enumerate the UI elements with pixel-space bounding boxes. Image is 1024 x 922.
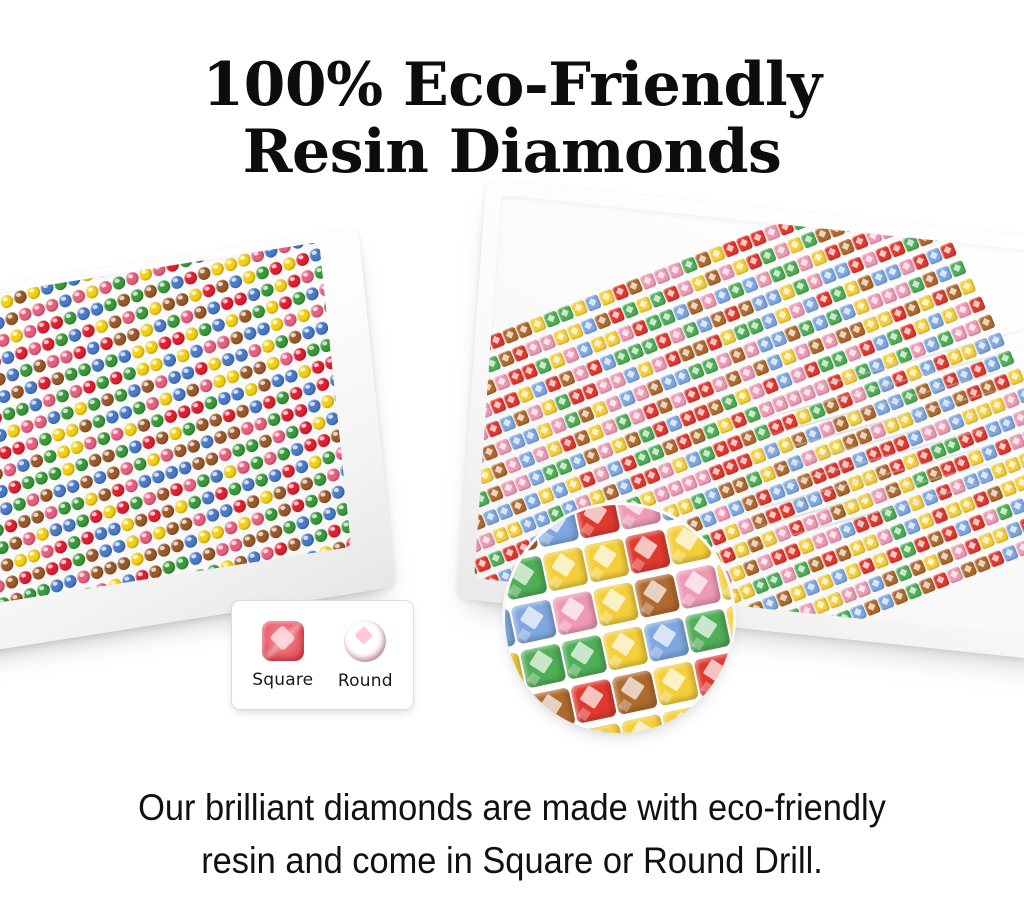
round-drill (53, 331, 69, 348)
round-drill (281, 256, 297, 273)
round-drill (38, 487, 54, 504)
round-drill (219, 295, 235, 312)
round-drill (42, 448, 58, 465)
square-gem-icon (262, 621, 304, 661)
round-drill (293, 402, 309, 419)
round-drill (62, 573, 78, 590)
round-drill (156, 542, 172, 559)
round-drill (80, 323, 96, 340)
drill-type-legend: Square Round (231, 600, 414, 710)
round-drill (307, 454, 323, 471)
round-drill (311, 415, 327, 432)
round-drill (258, 489, 274, 506)
round-drill (129, 287, 145, 304)
round-drill (135, 361, 151, 378)
square-drill-magnified (652, 661, 699, 706)
caption: Our brilliant diamonds are made with eco… (36, 782, 988, 887)
round-drill (124, 270, 140, 287)
round-drill (312, 471, 328, 488)
round-drill (71, 288, 87, 305)
round-drill (156, 279, 172, 296)
square-drill-magnified (684, 608, 731, 653)
round-drill (208, 412, 224, 429)
round-drill (153, 374, 169, 391)
square-drill (474, 602, 483, 620)
round-drill (292, 346, 308, 363)
round-drill (159, 447, 175, 464)
round-drill (108, 370, 124, 387)
round-drill (187, 287, 203, 304)
round-drill (129, 551, 145, 568)
round-drill (116, 555, 132, 572)
page-title-line2: Resin Diamonds (0, 119, 1024, 186)
round-drill (4, 310, 20, 327)
round-drill (255, 321, 271, 338)
round-drill (33, 470, 49, 487)
round-drill (267, 467, 283, 484)
round-drill (89, 564, 105, 581)
round-drill (130, 344, 146, 361)
round-drill (104, 409, 120, 426)
round-drill (220, 351, 236, 368)
round-drill (241, 269, 257, 286)
square-drill (910, 195, 928, 206)
round-drill (298, 419, 314, 436)
round-drill (90, 357, 106, 374)
round-drill (66, 534, 82, 551)
round-drill (59, 405, 75, 422)
round-drill (40, 336, 56, 353)
round-drill (148, 356, 164, 373)
round-drill (127, 439, 143, 456)
round-gem-icon (344, 620, 386, 662)
round-drill (175, 347, 191, 364)
square-drill (767, 636, 785, 637)
round-drill (275, 389, 291, 406)
round-drill (262, 450, 278, 467)
round-drill (138, 529, 154, 546)
round-drill (295, 251, 311, 268)
round-drill (105, 465, 121, 482)
round-drill (290, 497, 306, 514)
round-drill (18, 362, 34, 379)
round-drill (236, 515, 252, 532)
round-drill (228, 273, 244, 290)
round-drill (299, 476, 315, 493)
round-drill (95, 374, 111, 391)
round-drill (157, 335, 173, 352)
round-drill (115, 499, 131, 516)
round-drill (196, 265, 212, 282)
round-drill (295, 514, 311, 531)
round-drill (160, 503, 176, 520)
round-drill (94, 318, 110, 335)
round-drill (76, 569, 92, 586)
round-drill (10, 440, 26, 457)
round-drill (182, 477, 198, 494)
round-drill (217, 446, 233, 463)
round-drill (4, 574, 20, 591)
round-drill (9, 384, 25, 401)
round-drill (133, 512, 149, 529)
round-drill (123, 477, 139, 494)
square-drill (896, 195, 914, 211)
round-drill (74, 249, 90, 266)
round-drill (11, 496, 27, 513)
round-drill (119, 460, 135, 477)
round-drill (196, 528, 212, 545)
round-drill (3, 518, 19, 535)
round-drill (230, 386, 246, 403)
round-drill (114, 443, 130, 460)
round-drill (234, 403, 250, 420)
round-drill (36, 375, 52, 392)
round-drill (223, 520, 239, 537)
round-drill (161, 559, 177, 576)
round-drill (225, 368, 241, 385)
round-drill (71, 551, 87, 568)
round-drill (243, 381, 259, 398)
round-drill (20, 474, 36, 491)
round-drill (132, 456, 148, 473)
round-drill (330, 484, 346, 501)
round-drill (46, 409, 62, 426)
square-drill-magnified (583, 538, 630, 583)
round-drill (170, 330, 186, 347)
legend-item-round[interactable]: Round (338, 620, 393, 691)
round-drill (296, 307, 312, 324)
round-drill (310, 359, 326, 376)
caption-line2: resin and come in Square or Round Drill. (36, 835, 988, 888)
round-drill (74, 456, 90, 473)
round-drill (41, 392, 57, 409)
round-drill (273, 277, 289, 294)
round-drill (299, 532, 315, 549)
round-drill (274, 333, 290, 350)
round-drill (209, 468, 225, 485)
round-drill (232, 291, 248, 308)
round-drill (31, 565, 47, 582)
round-drill (212, 429, 228, 446)
round-drill (203, 395, 219, 412)
round-drill (145, 451, 161, 468)
round-drill (277, 294, 293, 311)
round-drill (210, 524, 226, 541)
round-drill (171, 386, 187, 403)
round-drill (107, 314, 123, 331)
round-drill (273, 541, 289, 558)
round-drill (192, 304, 208, 321)
round-drill (61, 254, 77, 271)
square-drill-magnified (551, 590, 598, 635)
round-drill (87, 452, 103, 469)
round-drill (305, 342, 321, 359)
round-drill (121, 365, 137, 382)
round-drill (291, 290, 307, 307)
square-drill (859, 195, 877, 204)
round-drill (128, 495, 144, 512)
round-drill (143, 339, 159, 356)
round-drill (102, 296, 118, 313)
round-drill (247, 342, 263, 359)
round-drill (62, 310, 78, 327)
round-drill (279, 407, 295, 424)
round-drill (155, 486, 171, 503)
round-drill (25, 491, 41, 508)
round-drill (235, 459, 251, 476)
round-drill (321, 449, 337, 466)
round-drill (316, 432, 332, 449)
round-drill (268, 523, 284, 540)
round-drill (308, 510, 324, 527)
round-drill (48, 258, 64, 275)
round-drill (15, 457, 31, 474)
round-drill (173, 242, 189, 252)
round-drill (101, 504, 117, 521)
square-drill-magnified (665, 520, 712, 565)
round-drill (64, 422, 80, 439)
round-drill (206, 300, 222, 317)
square-drill-magnified (611, 670, 658, 715)
round-drill (181, 421, 197, 438)
round-drill (200, 490, 216, 507)
round-drill (37, 431, 53, 448)
round-drill (289, 441, 305, 458)
round-drill (177, 460, 193, 477)
round-drill (244, 437, 260, 454)
round-drill (131, 400, 147, 417)
round-drill (68, 383, 84, 400)
legend-items: Square Round (232, 601, 413, 709)
round-drill (98, 542, 114, 559)
round-drill (246, 286, 262, 303)
round-drill (21, 530, 37, 547)
round-drill (201, 282, 217, 299)
round-drill (227, 481, 243, 498)
round-drill (89, 301, 105, 318)
round-drill (223, 256, 239, 273)
round-drill (204, 451, 220, 468)
round-drill (75, 513, 91, 530)
round-drill (144, 395, 160, 412)
round-drill (76, 361, 92, 378)
round-drill (8, 328, 24, 345)
round-drill (265, 355, 281, 372)
round-drill (88, 508, 104, 525)
round-drill (215, 334, 231, 351)
round-drill (283, 368, 299, 385)
round-drill (28, 396, 44, 413)
round-drill (72, 344, 88, 361)
round-drill (57, 293, 73, 310)
round-drill (102, 560, 118, 577)
round-drill (169, 274, 185, 291)
round-drill (30, 301, 46, 318)
round-drill (117, 348, 133, 365)
round-drill (304, 286, 320, 303)
round-drill (193, 360, 209, 377)
round-drill (12, 552, 28, 569)
round-drill (299, 268, 315, 285)
round-drill (198, 377, 214, 394)
round-drill (103, 352, 119, 369)
round-drill (169, 537, 185, 554)
round-drill (118, 404, 134, 421)
round-drill (229, 330, 245, 347)
round-drill (188, 343, 204, 360)
round-drill (147, 300, 163, 317)
round-drill (126, 382, 142, 399)
round-drill (141, 242, 157, 243)
round-drill (17, 306, 33, 323)
round-drill (98, 335, 114, 352)
round-drill (191, 511, 207, 528)
legend-label-square: Square (252, 670, 313, 690)
round-drill (294, 458, 310, 475)
round-drill (23, 379, 39, 396)
round-drill (194, 416, 210, 433)
round-drill (141, 434, 157, 451)
round-drill (207, 356, 223, 373)
round-drill (69, 439, 85, 456)
round-drill (321, 506, 337, 523)
round-drill (120, 516, 136, 533)
round-drill (51, 426, 67, 443)
square-drill-magnified (510, 599, 557, 644)
round-drill (158, 391, 174, 408)
round-drill (84, 547, 100, 564)
round-drill (285, 480, 301, 497)
round-drill (165, 313, 181, 330)
round-drill (30, 509, 46, 526)
round-drill (73, 400, 89, 417)
closeup-rows (505, 505, 733, 733)
round-drill (47, 465, 63, 482)
round-drill (96, 430, 112, 447)
round-drill (154, 430, 170, 447)
round-drill (253, 416, 269, 433)
legend-item-square[interactable]: Square (252, 621, 313, 690)
square-drill-magnified (697, 505, 733, 513)
round-drill (261, 394, 277, 411)
round-drill (136, 417, 152, 434)
round-drill (240, 476, 256, 493)
round-drill (12, 289, 28, 306)
round-drill (281, 519, 297, 536)
round-drill (161, 296, 177, 313)
square-drill-magnified (656, 505, 703, 522)
round-drill (320, 393, 336, 410)
square-drill-magnified (693, 652, 733, 697)
round-drill (288, 385, 304, 402)
round-drill (286, 536, 302, 553)
round-drill (56, 500, 72, 517)
round-drill-tray (0, 268, 380, 628)
round-drill (172, 442, 188, 459)
round-drill (81, 379, 97, 396)
round-drill (256, 377, 272, 394)
round-drill (32, 414, 48, 431)
round-drill (111, 538, 127, 555)
round-drill (214, 541, 230, 558)
round-drill (143, 546, 159, 563)
round-drill (35, 319, 51, 336)
round-drill (120, 309, 136, 326)
round-drill (134, 305, 150, 322)
round-drill (49, 578, 65, 595)
round-drill (255, 528, 271, 545)
round-drill (254, 265, 270, 282)
round-drill (301, 381, 317, 398)
legend-label-round: Round (338, 671, 393, 691)
round-drill (160, 242, 176, 256)
round-drill (122, 421, 138, 438)
round-drill (284, 424, 300, 441)
round-drill (113, 387, 129, 404)
round-drill (237, 308, 253, 325)
round-drill (174, 291, 190, 308)
round-drill (314, 320, 330, 337)
caption-line1: Our brilliant diamonds are made with eco… (36, 782, 988, 835)
round-drill (79, 530, 95, 547)
square-drill (474, 625, 479, 637)
round-drill (188, 550, 204, 567)
round-drill (7, 479, 23, 496)
round-drill (50, 370, 66, 387)
round-drill (82, 435, 98, 452)
round-drill (91, 413, 107, 430)
square-drill-magnified (675, 564, 722, 609)
square-drill-magnified (634, 573, 681, 618)
round-drill (146, 507, 162, 524)
round-drill (86, 396, 102, 413)
round-drill (185, 382, 201, 399)
round-drill (228, 537, 244, 554)
round-drill (45, 353, 61, 370)
square-drill (832, 197, 850, 215)
round-drill (222, 463, 238, 480)
round-drill (178, 516, 194, 533)
round-drill (61, 517, 77, 534)
round-drill (200, 242, 216, 243)
page-title: 100% Eco-Friendly Resin Diamonds (0, 52, 1024, 186)
round-drill (209, 261, 225, 278)
round-drill (34, 526, 50, 543)
round-drill (259, 282, 275, 299)
round-drill (168, 481, 184, 498)
round-drill (55, 444, 71, 461)
square-drill-magnified (624, 529, 671, 574)
round-drill (26, 548, 42, 565)
round-drill (124, 534, 140, 551)
round-drill (221, 407, 237, 424)
round-drill (43, 504, 59, 521)
round-drill (297, 363, 313, 380)
square-drill (475, 620, 493, 637)
round-drill (233, 347, 249, 364)
round-drill (195, 472, 211, 489)
round-drill (186, 438, 202, 455)
round-drill (266, 411, 282, 428)
round-drill (93, 525, 109, 542)
round-drill (8, 535, 24, 552)
round-drill (257, 433, 273, 450)
round-drill (189, 399, 205, 416)
round-drill (238, 364, 254, 381)
square-drill-magnified (592, 582, 639, 627)
round-drill (183, 533, 199, 550)
round-drill (245, 493, 261, 510)
